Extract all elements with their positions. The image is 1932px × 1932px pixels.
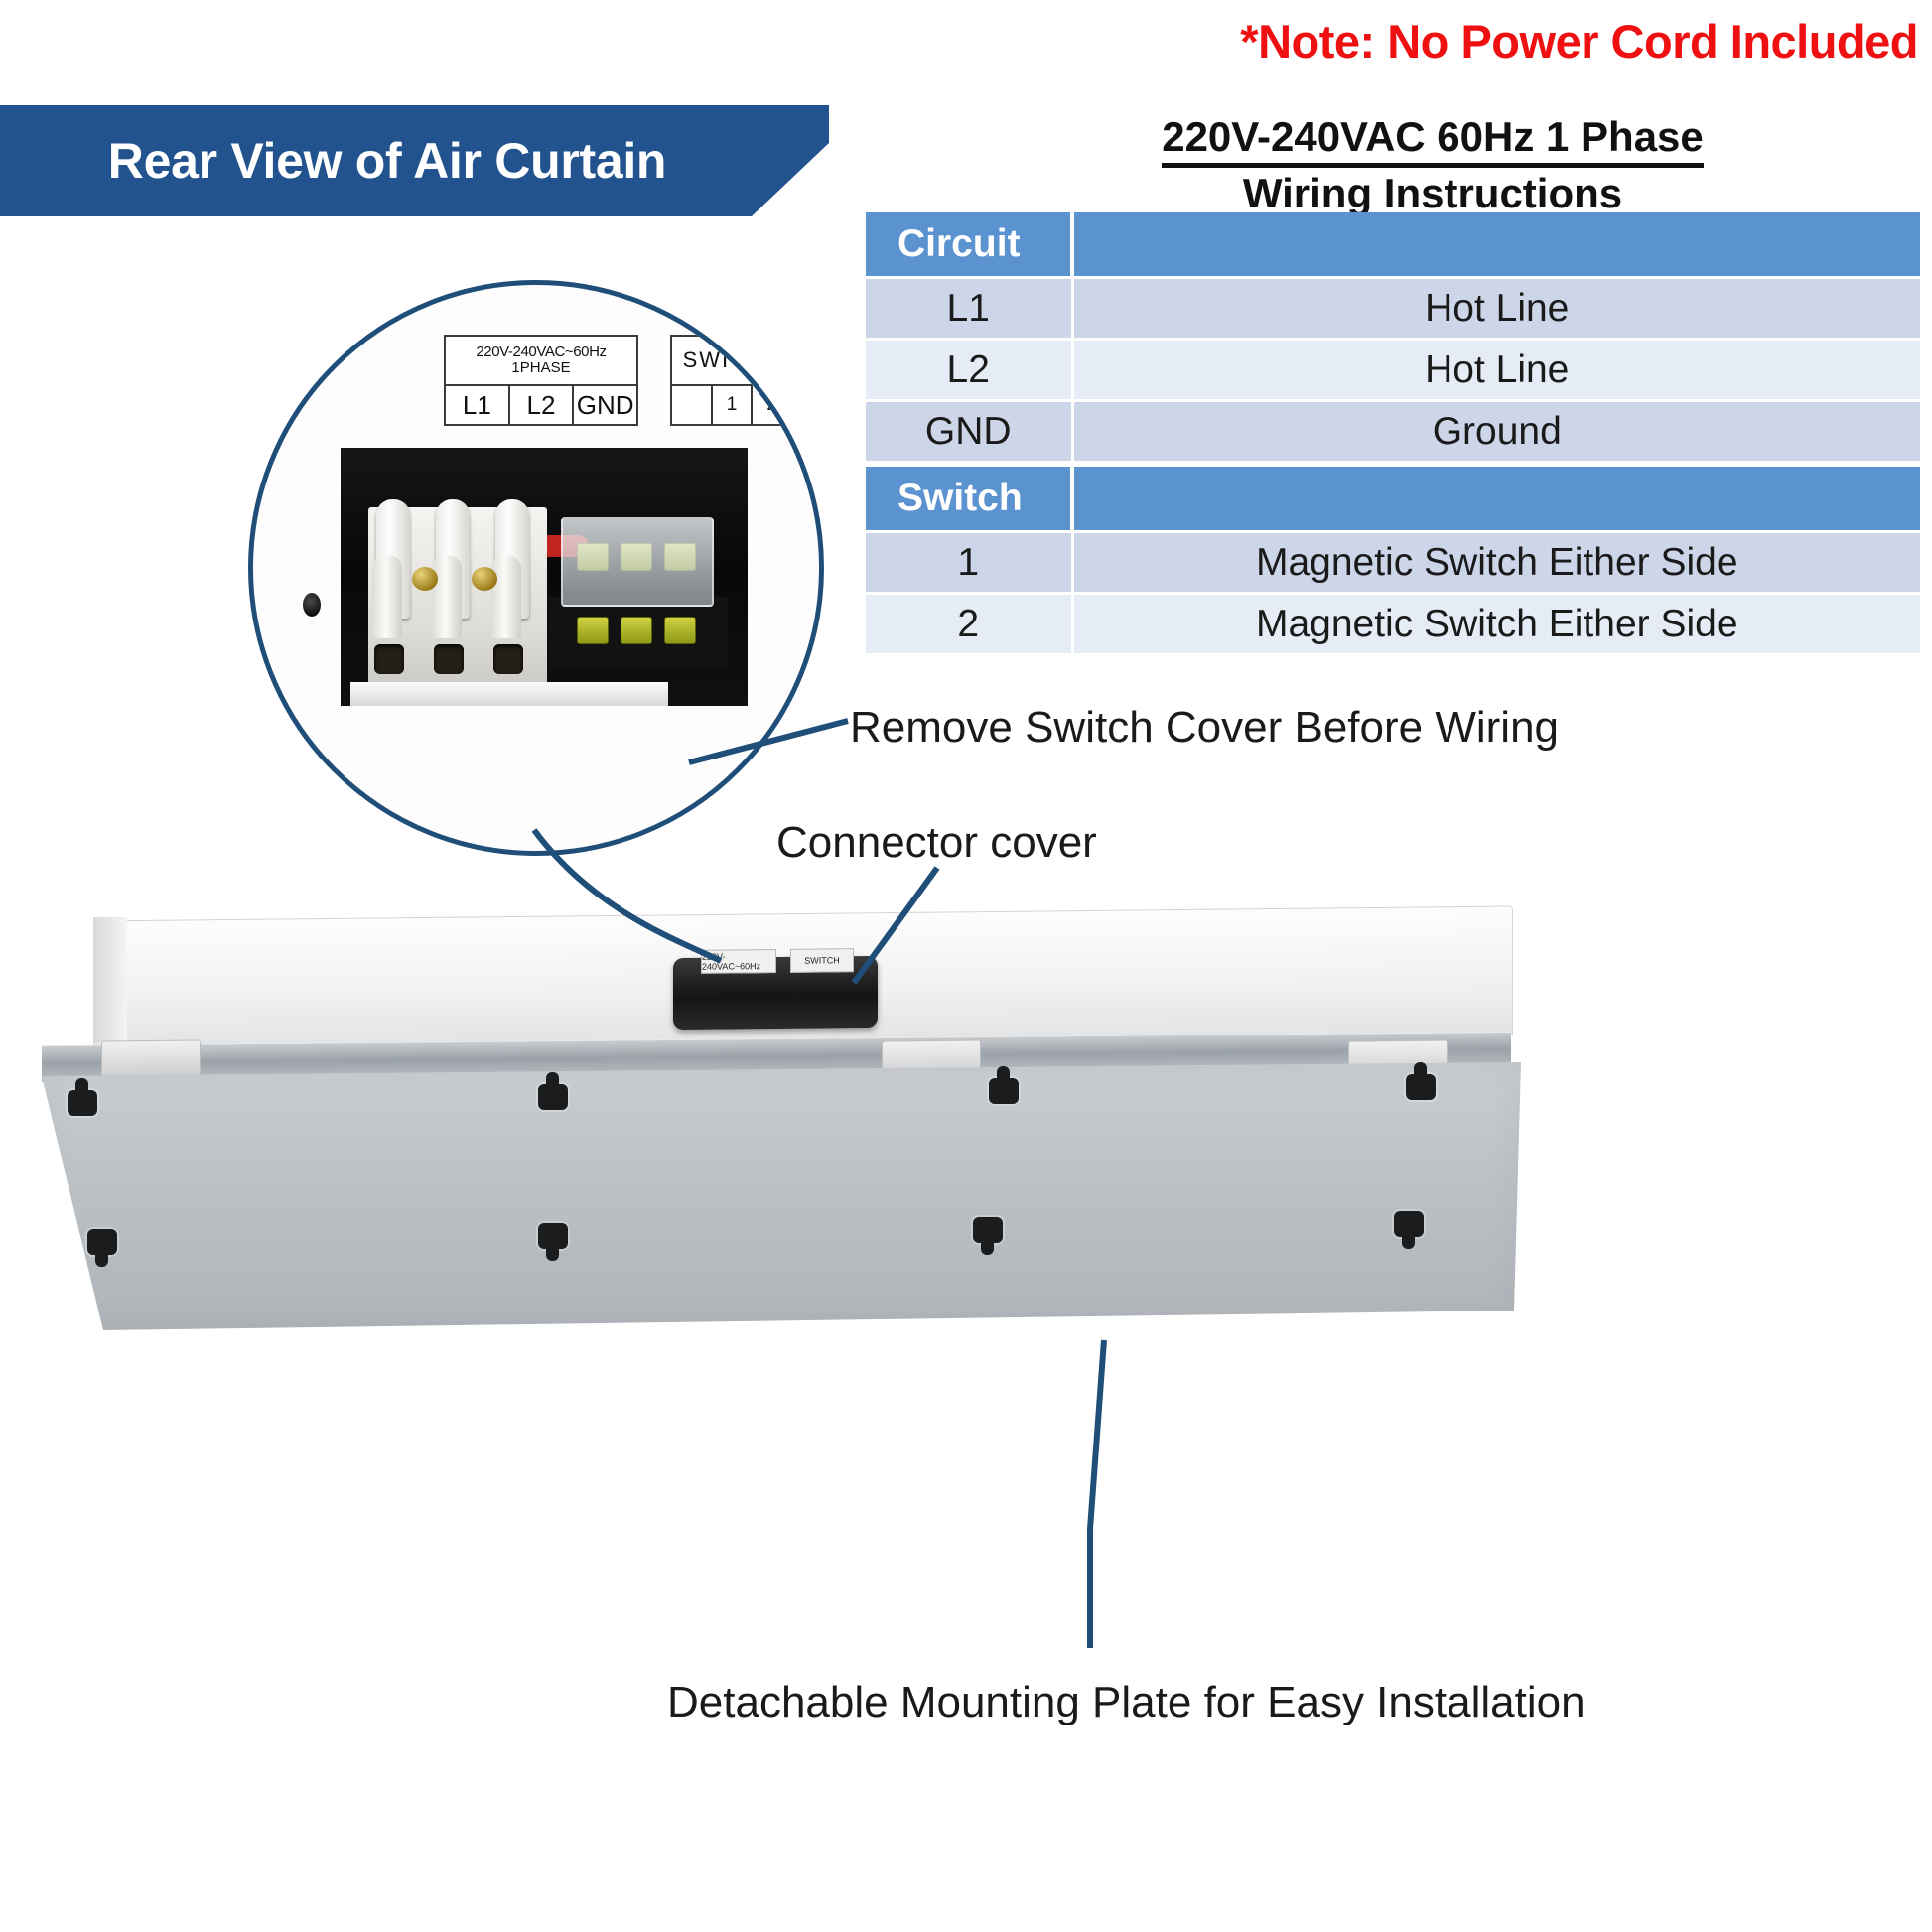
terminal-post-l2-lower: [432, 555, 462, 638]
mount-keyslot-4: [1414, 1062, 1427, 1080]
circuit-row-0-value: Hot Line: [1072, 278, 1920, 340]
circuit-header-key: Circuit: [866, 212, 1072, 278]
circuit-row-1-value: Hot Line: [1072, 340, 1920, 401]
switch-terminal-screw-4: [577, 617, 609, 644]
mount-keyslot-5: [95, 1249, 108, 1267]
detachable-mounting-plate: [42, 1062, 1521, 1330]
lower-white-strip: [350, 682, 668, 706]
table-row: 2 Magnetic Switch Either Side: [866, 594, 1920, 654]
cover-label-voltage: 220V-240VAC~60Hz: [701, 949, 776, 974]
switch-row-0-value: Magnetic Switch Either Side: [1072, 532, 1920, 594]
no-power-cord-note: *Note: No Power Cord Included: [1240, 14, 1918, 69]
terminal-socket-gnd: [493, 644, 523, 674]
terminal-socket-l1: [374, 644, 404, 674]
circuit-wiring-table: Circuit L1 Hot Line L2 Hot Line GND Grou…: [866, 212, 1920, 461]
leader-mounting-plate: [1090, 1340, 1104, 1648]
caption-remove-switch-cover: Remove Switch Cover Before Wiring: [850, 703, 1559, 753]
voltage-plate-title: 220V-240VAC~60Hz 1PHASE: [446, 337, 636, 386]
terminal-post-gnd-lower: [491, 555, 521, 638]
switch-plate-cell-1: 1: [711, 386, 752, 424]
table-row: L1 Hot Line: [866, 278, 1920, 340]
caption-connector-cover: Connector cover: [776, 818, 1097, 868]
clear-switch-cover: [561, 517, 714, 607]
switch-plate-cell-blank: [672, 386, 711, 424]
switch-wiring-table: Switch 1 Magnetic Switch Either Side 2 M…: [866, 467, 1920, 653]
brass-screw-2: [472, 567, 497, 591]
circuit-row-1-key: L2: [866, 340, 1072, 401]
rail-clip-1: [101, 1040, 201, 1077]
panel-screw-hole-icon: [303, 593, 321, 617]
terminal-post-l1-lower: [372, 555, 402, 638]
table-row: 1 Magnetic Switch Either Side: [866, 532, 1920, 594]
voltage-rating-plate: 220V-240VAC~60Hz 1PHASE L1 L2 GND: [444, 335, 638, 426]
circuit-row-2-key: GND: [866, 401, 1072, 462]
voltage-plate-line-2: 1PHASE: [511, 360, 570, 376]
voltage-plate-line-1: 220V-240VAC~60Hz: [476, 345, 606, 360]
switch-rating-plate: SWITCH 1 2: [670, 335, 793, 426]
switch-row-0-key: 1: [866, 532, 1072, 594]
air-curtain-end-cap: [93, 917, 127, 1042]
connector-cover-part: 220V-240VAC~60Hz SWITCH: [673, 956, 878, 1030]
switch-plate-cells: 1 2: [672, 386, 791, 424]
table-row: GND Ground: [866, 401, 1920, 462]
switch-row-1-value: Magnetic Switch Either Side: [1072, 594, 1920, 654]
inset-circle-frame: 220V-240VAC~60Hz 1PHASE L1 L2 GND SWITCH…: [248, 280, 824, 856]
switch-terminal-screw-6: [664, 617, 696, 644]
voltage-plate-cells: L1 L2 GND: [446, 386, 636, 424]
rear-view-banner: [0, 105, 829, 216]
circuit-row-2-value: Ground: [1072, 401, 1920, 462]
switch-plate-cell-2: 2: [751, 386, 791, 424]
table-header-row: Circuit: [866, 212, 1920, 278]
switch-plate-title: SWITCH: [672, 337, 791, 386]
switch-header-value: [1072, 467, 1920, 532]
caption-mounting-plate: Detachable Mounting Plate for Easy Insta…: [667, 1678, 1586, 1727]
table-row: L2 Hot Line: [866, 340, 1920, 401]
switch-row-1-key: 2: [866, 594, 1072, 654]
mount-keyslot-6: [546, 1243, 559, 1261]
terminal-socket-l2: [434, 644, 464, 674]
mount-keyslot-7: [981, 1237, 994, 1255]
voltage-plate-cell-l2: L2: [508, 386, 573, 424]
mount-keyslot-3: [997, 1066, 1010, 1084]
table-header-row: Switch: [866, 467, 1920, 532]
terminal-block-photo: [341, 448, 748, 706]
mount-keyslot-2: [546, 1072, 559, 1090]
brass-screw-1: [412, 567, 438, 591]
wiring-heading-line-1: 220V-240VAC 60Hz 1 Phase: [1162, 111, 1704, 168]
magnified-terminal-inset: 220V-240VAC~60Hz 1PHASE L1 L2 GND SWITCH…: [248, 280, 824, 856]
air-curtain-rear-photo: 220V-240VAC~60Hz SWITCH: [18, 913, 1527, 1330]
voltage-plate-cell-gnd: GND: [572, 386, 636, 424]
mount-keyslot-1: [75, 1078, 88, 1096]
circuit-row-0-key: L1: [866, 278, 1072, 340]
mount-keyslot-8: [1402, 1231, 1415, 1249]
switch-header-key: Switch: [866, 467, 1072, 532]
switch-terminal-screw-5: [621, 617, 652, 644]
voltage-plate-cell-l1: L1: [446, 386, 508, 424]
cover-label-switch: SWITCH: [790, 948, 854, 973]
wiring-instructions-heading: 220V-240VAC 60Hz 1 Phase Wiring Instruct…: [933, 111, 1932, 224]
circuit-header-value: [1072, 212, 1920, 278]
